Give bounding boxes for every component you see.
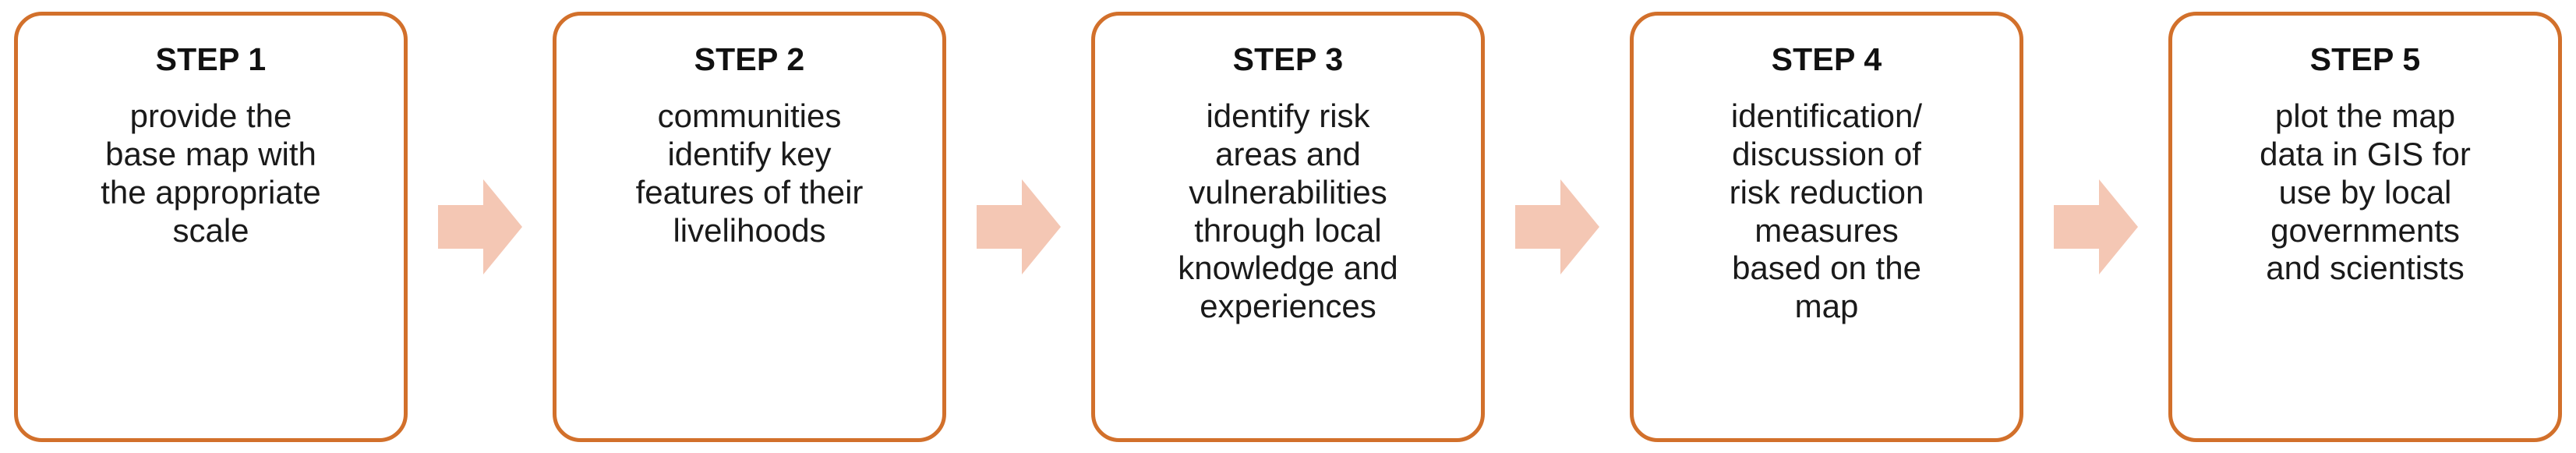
step-box-1[interactable]: STEP 1 provide the base map with the app…	[14, 12, 408, 442]
step-body-4: identification/ discussion of risk reduc…	[1646, 97, 2007, 325]
arrow-right-icon	[977, 179, 1061, 274]
step-body-3: identify risk areas and vulnerabilities …	[1108, 97, 1468, 325]
step-title-1: STEP 1	[156, 42, 267, 78]
step-box-2[interactable]: STEP 2 communities identify key features…	[553, 12, 946, 442]
step-title-4: STEP 4	[1772, 42, 1882, 78]
step-body-2: communities identify key features of the…	[569, 97, 930, 250]
step-box-5[interactable]: STEP 5 plot the map data in GIS for use …	[2168, 12, 2562, 442]
step-body-5: plot the map data in GIS for use by loca…	[2185, 97, 2546, 288]
step-title-2: STEP 2	[694, 42, 805, 78]
arrow-right-icon	[2054, 179, 2138, 274]
arrow-right-icon	[438, 179, 522, 274]
step-box-4[interactable]: STEP 4 identification/ discussion of ris…	[1630, 12, 2023, 442]
process-flow-diagram: STEP 1 provide the base map with the app…	[0, 0, 2576, 453]
step-title-3: STEP 3	[1233, 42, 1344, 78]
step-body-1: provide the base map with the appropriat…	[30, 97, 391, 250]
arrow-right-icon	[1515, 179, 1599, 274]
step-box-3[interactable]: STEP 3 identify risk areas and vulnerabi…	[1091, 12, 1485, 442]
step-title-5: STEP 5	[2310, 42, 2421, 78]
